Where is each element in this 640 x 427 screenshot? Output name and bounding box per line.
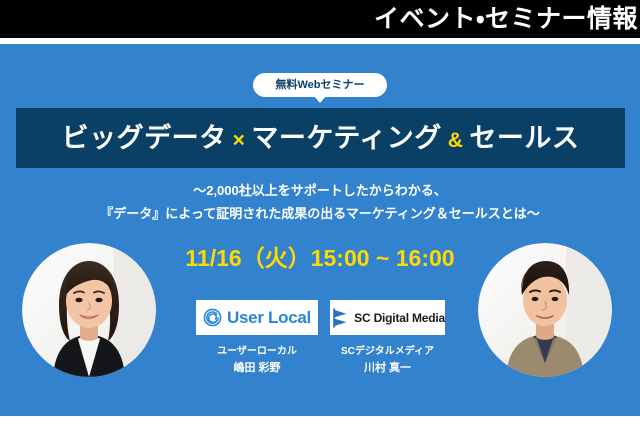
badge-container: 無料Webセミナー <box>0 73 640 97</box>
headline-part-3: セールス <box>469 123 579 153</box>
headline-accent-ampersand: & <box>442 129 470 152</box>
seminar-banner: 無料Webセミナー ビッグデータ×マーケティング&セールス 〜2,000社以上を… <box>0 44 640 416</box>
headline-part-2: マーケティング <box>251 123 441 153</box>
headline-part-1: ビッグデータ <box>62 123 227 153</box>
double-triangle-icon <box>332 307 349 329</box>
speaker-photo-left <box>22 243 156 377</box>
logo-user-local: User Local <box>196 300 318 335</box>
logo-user-local-text: User Local <box>227 309 311 326</box>
page-header-bar: イベント・セミナー情報 <box>0 0 640 38</box>
speaker-company-left: ユーザーローカル <box>196 344 318 360</box>
logo-sc-digital-media-text: SC Digital Media <box>354 312 445 324</box>
page-title: イベント・セミナー情報 <box>374 7 640 32</box>
sponsor-logos: User Local SC Digital Media <box>196 300 445 335</box>
speaker-photo-right-image <box>478 243 612 377</box>
subtitle: 〜2,000社以上をサポートしたからわかる、 『データ』によって証明された成果の… <box>0 180 640 226</box>
speaker-person-right: 川村 真一 <box>330 360 445 377</box>
speaker-names: ユーザーローカル 嶋田 彩野 SCデジタルメディア 川村 真一 <box>196 344 445 377</box>
spiral-circle-icon <box>203 308 222 327</box>
headline-bar: ビッグデータ×マーケティング&セールス <box>16 108 625 168</box>
headline: ビッグデータ×マーケティング&セールス <box>62 125 580 152</box>
speaker-photo-left-image <box>22 243 156 377</box>
subtitle-line-2: 『データ』によって証明された成果の出るマーケティング＆セールスとは〜 <box>0 203 640 226</box>
speaker-person-left: 嶋田 彩野 <box>196 360 318 377</box>
free-webinar-badge: 無料Webセミナー <box>253 73 386 97</box>
speaker-info-left: ユーザーローカル 嶋田 彩野 <box>196 344 318 377</box>
speaker-photo-right <box>478 243 612 377</box>
subtitle-line-1: 〜2,000社以上をサポートしたからわかる、 <box>0 180 640 203</box>
speaker-company-right: SCデジタルメディア <box>330 344 445 360</box>
logo-sc-digital-media: SC Digital Media <box>330 300 445 335</box>
headline-accent-times: × <box>227 129 252 152</box>
speaker-info-right: SCデジタルメディア 川村 真一 <box>330 344 445 377</box>
